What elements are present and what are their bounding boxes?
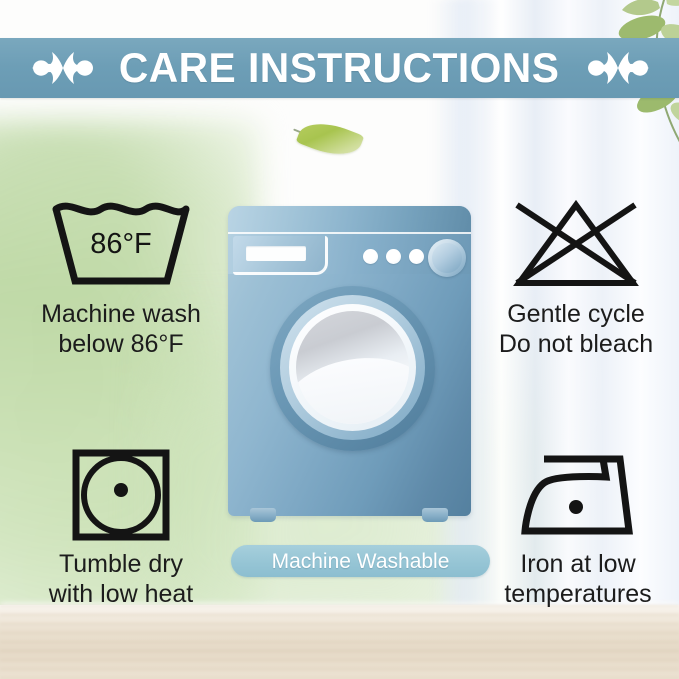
machine-button-1 [363, 249, 378, 264]
detergent-drawer [233, 236, 328, 275]
control-knob [428, 239, 466, 277]
machine-button-3 [409, 249, 424, 264]
machine-door-rim [289, 304, 416, 431]
machine-door-inner-ring [280, 295, 425, 440]
machine-door-glass [296, 311, 409, 424]
wash-basin-icon: 86°F [45, 197, 197, 293]
page-title: CARE INSTRUCTIONS [119, 47, 560, 89]
symbol-machine-wash: 86°F Machine wash below 86°F [18, 197, 224, 359]
symbol-label-dry: Tumble dry with low heat [49, 550, 194, 609]
symbol-do-not-bleach: Gentle cycle Do not bleach [476, 197, 676, 359]
badge-label: Machine Washable [272, 551, 450, 572]
symbol-label-bleach: Gentle cycle Do not bleach [499, 300, 653, 359]
wooden-table-surface [0, 605, 679, 679]
care-instructions-infographic: CARE INSTRUCTIONS [0, 0, 679, 679]
control-knob-inner [432, 243, 462, 273]
detergent-drawer-slot [246, 246, 306, 261]
tumble-dry-low-icon [66, 447, 176, 543]
triangle-crossed-do-not-bleach-icon [500, 197, 652, 293]
svg-text:86°F: 86°F [90, 228, 152, 260]
symbol-label-wash: Machine wash below 86°F [41, 300, 201, 359]
symbol-tumble-dry: Tumble dry with low heat [20, 447, 222, 609]
header-banner: CARE INSTRUCTIONS [0, 38, 679, 98]
machine-button-2 [386, 249, 401, 264]
machine-washable-badge: Machine Washable [231, 545, 490, 577]
fleur-de-lis-icon-right [585, 46, 651, 90]
iron-low-temperature-icon [508, 447, 648, 543]
machine-top-lid [228, 206, 471, 234]
symbol-label-iron: Iron at low temperatures [504, 550, 651, 609]
symbol-iron: Iron at low temperatures [478, 447, 678, 609]
machine-door-glass-reflection [296, 348, 409, 424]
machine-door-outer-ring [270, 286, 435, 451]
fleur-de-lis-icon-left [30, 46, 96, 90]
machine-foot-left [250, 508, 276, 522]
machine-foot-right [422, 508, 448, 522]
washing-machine-illustration [228, 206, 471, 528]
